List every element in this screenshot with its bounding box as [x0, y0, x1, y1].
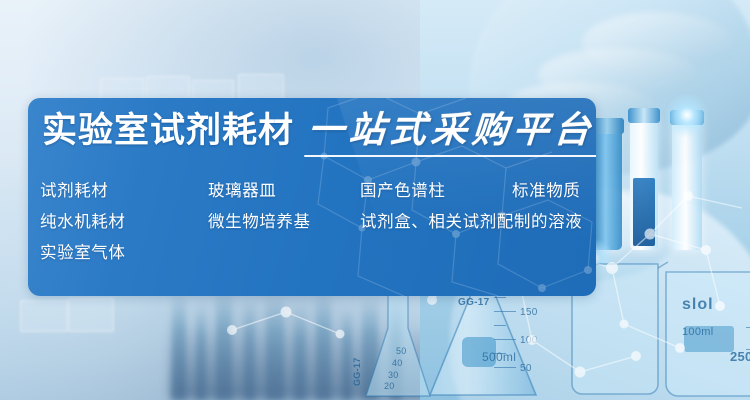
category-item-glassware[interactable]: 玻璃器皿 — [208, 176, 276, 207]
banner-root: GG-17 500ml 50 40 30 20 GG-17 250 APPROX… — [0, 0, 750, 400]
category-item-reference-materials[interactable]: 标准物质 — [512, 176, 580, 207]
category-item-domestic-chromatography-column[interactable]: 国产色谱柱 — [360, 176, 446, 207]
category-row: 纯水机耗材 微生物培养基 试剂盒、相关试剂配制的溶液 — [40, 207, 586, 238]
category-grid: 试剂耗材 玻璃器皿 国产色谱柱 标准物质 纯水机耗材 微生物培养基 试剂盒、相关… — [40, 176, 586, 269]
category-item-kits-and-solutions[interactable]: 试剂盒、相关试剂配制的溶液 — [360, 207, 582, 238]
category-item-lab-gases[interactable]: 实验室气体 — [40, 238, 126, 269]
category-item-reagent-consumables[interactable]: 试剂耗材 — [40, 176, 108, 207]
category-item-water-purifier-consumables[interactable]: 纯水机耗材 — [40, 207, 126, 238]
category-row: 试剂耗材 玻璃器皿 国产色谱柱 标准物质 — [40, 176, 586, 207]
category-row: 实验室气体 — [40, 238, 586, 269]
headline-underline — [304, 155, 596, 157]
category-item-microbial-media[interactable]: 微生物培养基 — [208, 207, 311, 238]
headline-brush-text: 一站式采购平台 — [307, 112, 596, 148]
panel-content: 实验室试剂耗材 一站式采购平台 试剂耗材 玻璃器皿 国产色谱柱 标准物质 纯水机… — [28, 98, 596, 296]
headline-brush-wrap: 一站式采购平台 — [308, 112, 595, 157]
headline-main-text: 实验室试剂耗材 — [42, 113, 294, 148]
promo-panel: 实验室试剂耗材 一站式采购平台 试剂耗材 玻璃器皿 国产色谱柱 标准物质 纯水机… — [28, 98, 596, 296]
headline: 实验室试剂耗材 一站式采购平台 — [42, 112, 595, 157]
